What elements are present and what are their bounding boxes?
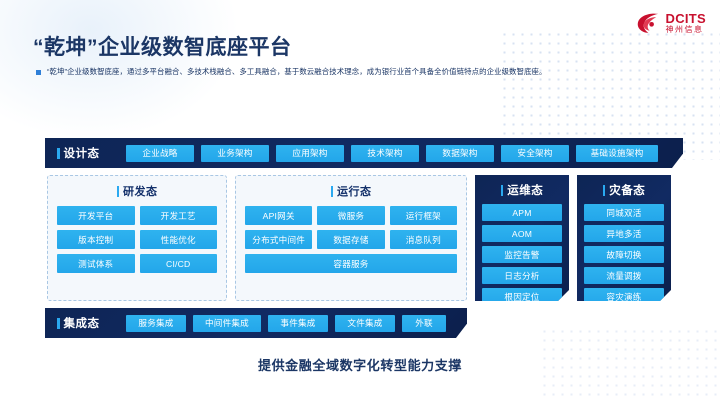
- rd-chip-test-system[interactable]: 测试体系: [57, 254, 135, 273]
- design-chip-technology-architecture[interactable]: 技术架构: [351, 145, 419, 162]
- rd-chip-dev-platform[interactable]: 开发平台: [57, 206, 135, 225]
- dr-chip-failover[interactable]: 故障切换: [584, 246, 664, 263]
- design-chip-application-architecture[interactable]: 应用架构: [276, 145, 344, 162]
- rd-chip-dev-process[interactable]: 开发工艺: [140, 206, 218, 225]
- integration-chip-file-integration[interactable]: 文件集成: [335, 315, 395, 332]
- brand-logo: DCITS 神州信息: [636, 11, 707, 35]
- tick-icon: [331, 186, 334, 197]
- design-state-label-group: 设计态: [57, 145, 119, 161]
- tick-icon: [57, 318, 60, 329]
- design-chip-business-architecture[interactable]: 业务架构: [201, 145, 269, 162]
- integration-state-label: 集成态: [64, 315, 100, 331]
- ops-state-title-group: 运维态: [482, 182, 562, 198]
- footer-caption: 提供金融全域数字化转型能力支撑: [0, 355, 720, 374]
- integration-chip-event-integration[interactable]: 事件集成: [268, 315, 328, 332]
- rd-chip-performance-optimization[interactable]: 性能优化: [140, 230, 218, 249]
- dr-state-title-group: 灾备态: [584, 182, 664, 198]
- design-state-row: 设计态 企业战略 业务架构 应用架构 技术架构 数据架构 安全架构 基础设施架构: [45, 138, 683, 168]
- integration-state-label-group: 集成态: [57, 315, 119, 331]
- runtime-chip-grid: API网关 微服务 运行框架 分布式中间件 数据存储 消息队列 容器服务: [245, 206, 457, 273]
- architecture-diagram: 设计态 企业战略 业务架构 应用架构 技术架构 数据架构 安全架构 基础设施架构…: [45, 138, 683, 345]
- tick-icon: [501, 185, 504, 196]
- design-state-label: 设计态: [64, 145, 100, 161]
- dr-chip-dr-drill[interactable]: 容灾演练: [584, 288, 664, 305]
- design-chip-security-architecture[interactable]: 安全架构: [501, 145, 569, 162]
- square-bullet-icon: [36, 70, 41, 75]
- tick-icon: [603, 185, 606, 196]
- design-chip-enterprise-strategy[interactable]: 企业战略: [126, 145, 194, 162]
- integration-chip-middleware-integration[interactable]: 中间件集成: [193, 315, 261, 332]
- design-chip-data-architecture[interactable]: 数据架构: [426, 145, 494, 162]
- subtitle-text: “乾坤”企业级数智底座，通过多平台融合、多技术栈融合、多工具融合，基于数云融合技…: [47, 67, 547, 77]
- tick-icon: [57, 148, 60, 159]
- dr-chip-same-city-active-active[interactable]: 同城双活: [584, 204, 664, 221]
- ops-chip-monitoring-alerting[interactable]: 监控告警: [482, 246, 562, 263]
- runtime-state-panel: 运行态 API网关 微服务 运行框架 分布式中间件 数据存储 消息队列 容器服务: [235, 175, 467, 301]
- ops-chip-root-cause-analysis[interactable]: 根因定位: [482, 288, 562, 305]
- runtime-state-label: 运行态: [337, 183, 372, 199]
- ops-chip-aom[interactable]: AOM: [482, 225, 562, 242]
- dr-state-label: 灾备态: [609, 182, 645, 198]
- middle-band: 研发态 开发平台 开发工艺 版本控制 性能优化 测试体系 CI/CD 运行态: [45, 175, 683, 301]
- runtime-chip-distributed-middleware[interactable]: 分布式中间件: [245, 230, 312, 249]
- logo-name-cn: 神州信息: [666, 26, 707, 34]
- integration-chip-external-connection[interactable]: 外联: [402, 315, 446, 332]
- rd-state-panel: 研发态 开发平台 开发工艺 版本控制 性能优化 测试体系 CI/CD: [47, 175, 227, 301]
- dr-chip-grid: 同城双活 异地多活 故障切换 流量调拨 容灾演练: [584, 204, 664, 305]
- dr-chip-multi-region-active[interactable]: 异地多活: [584, 225, 664, 242]
- page-title: “乾坤”企业级数智底座平台: [33, 31, 292, 61]
- integration-state-row: 集成态 服务集成 中间件集成 事件集成 文件集成 外联: [45, 308, 467, 338]
- ops-state-label: 运维态: [507, 182, 543, 198]
- dr-chip-traffic-scheduling[interactable]: 流量调拨: [584, 267, 664, 284]
- runtime-chip-container-service[interactable]: 容器服务: [245, 254, 457, 273]
- runtime-chip-runtime-framework[interactable]: 运行框架: [390, 206, 457, 225]
- rd-chip-grid: 开发平台 开发工艺 版本控制 性能优化 测试体系 CI/CD: [57, 206, 217, 273]
- rd-state-label: 研发态: [123, 183, 158, 199]
- subtitle-row: “乾坤”企业级数智底座，通过多平台融合、多技术栈融合、多工具融合，基于数云融合技…: [36, 67, 696, 77]
- integration-chip-service-integration[interactable]: 服务集成: [126, 315, 186, 332]
- design-chip-infrastructure-architecture[interactable]: 基础设施架构: [576, 145, 658, 162]
- runtime-state-title-group: 运行态: [245, 183, 457, 199]
- runtime-chip-api-gateway[interactable]: API网关: [245, 206, 312, 225]
- slide-canvas: DCITS 神州信息 “乾坤”企业级数智底座平台 “乾坤”企业级数智底座，通过多…: [0, 0, 720, 405]
- runtime-chip-message-queue[interactable]: 消息队列: [390, 230, 457, 249]
- ops-chip-log-analysis[interactable]: 日志分析: [482, 267, 562, 284]
- runtime-chip-microservices[interactable]: 微服务: [317, 206, 384, 225]
- ops-chip-grid: APM AOM 监控告警 日志分析 根因定位: [482, 204, 562, 305]
- runtime-chip-data-storage[interactable]: 数据存储: [317, 230, 384, 249]
- ops-chip-apm[interactable]: APM: [482, 204, 562, 221]
- tick-icon: [117, 186, 120, 197]
- ops-state-panel: 运维态 APM AOM 监控告警 日志分析 根因定位: [475, 175, 569, 301]
- swoosh-icon: [636, 11, 662, 35]
- rd-chip-cicd[interactable]: CI/CD: [140, 254, 218, 273]
- rd-chip-version-control[interactable]: 版本控制: [57, 230, 135, 249]
- logo-name-en: DCITS: [666, 12, 707, 25]
- dr-state-panel: 灾备态 同城双活 异地多活 故障切换 流量调拨 容灾演练: [577, 175, 671, 301]
- rd-state-title-group: 研发态: [57, 183, 217, 199]
